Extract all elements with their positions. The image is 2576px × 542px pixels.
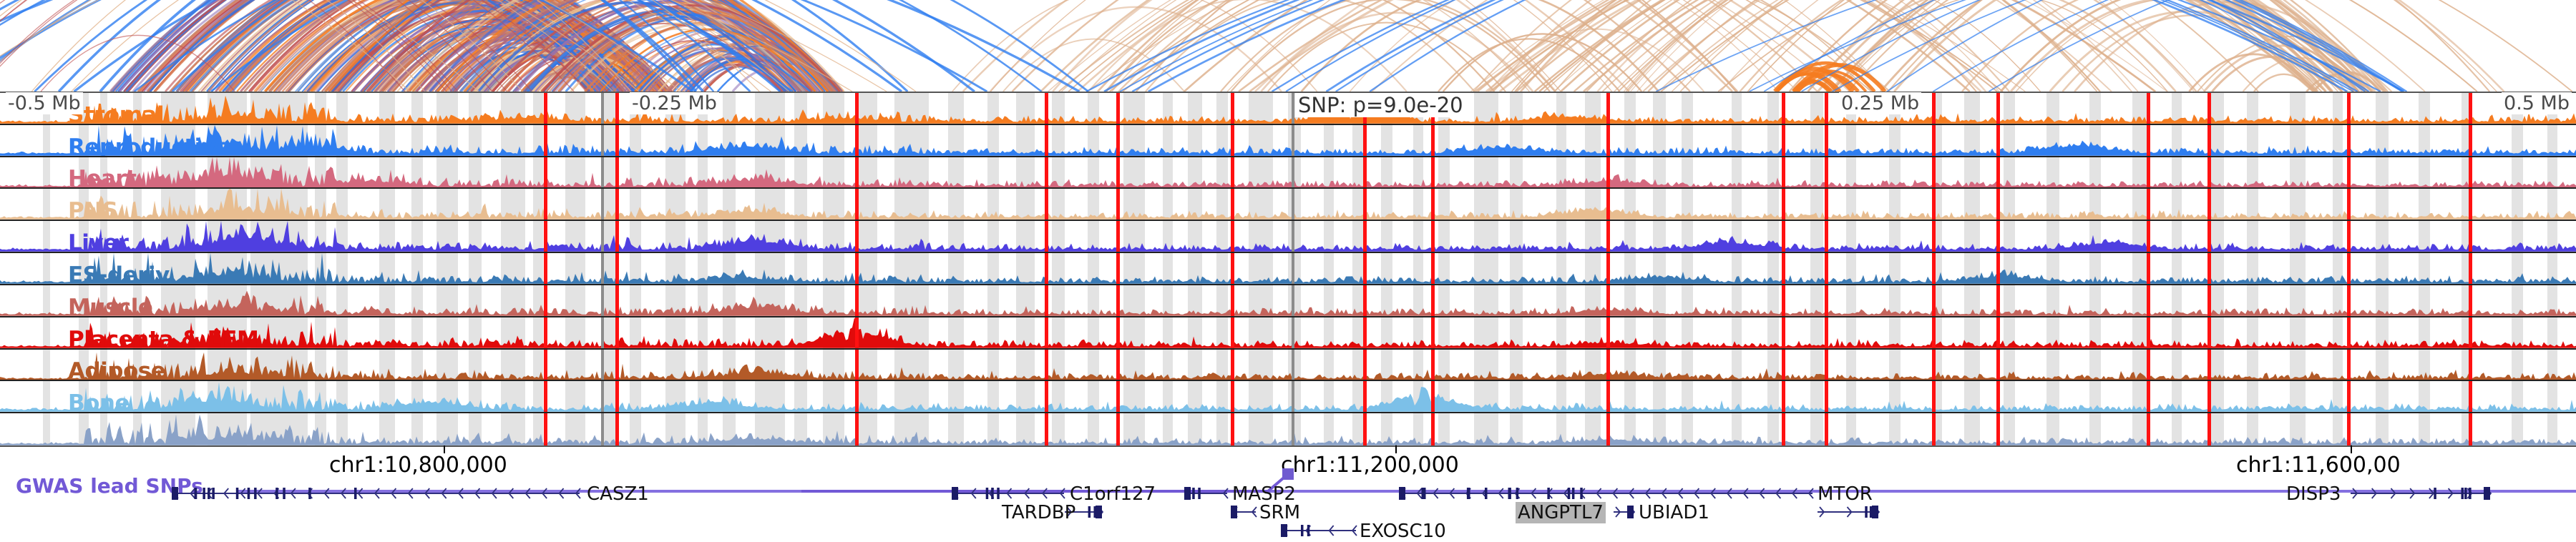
snp-position-marker [2347,413,2351,445]
signal-waveform [0,221,2576,252]
snp-position-marker [1932,381,1936,412]
snp-position-marker [2347,317,2351,348]
snp-position-marker [1363,317,1367,348]
snp-position-marker [1606,93,1610,124]
gray-position-marker [1292,285,1294,316]
snp-position-marker [1996,317,2000,348]
gray-position-marker [601,350,604,380]
snp-position-marker [1606,413,1610,445]
snp-position-marker [1932,350,1936,380]
snp-position-marker [2147,157,2150,188]
snp-position-marker [1231,93,1234,124]
gene-row: CASZ1C1orf127MASP2MTORDISP3 [0,485,2576,502]
axis-tick-label: -0.25 Mb [630,92,719,114]
snp-position-marker [1606,317,1610,348]
snp-position-marker [2207,350,2211,380]
gray-position-marker [601,381,604,412]
snp-position-marker [1045,285,1048,316]
snp-position-marker [2347,189,2351,220]
snp-position-marker [1116,125,1120,156]
gene-label[interactable]: EXOSC10 [1360,521,1446,542]
snp-position-marker [1782,189,1785,220]
track-label-es-deriv: ES-deriv [68,265,170,285]
axis-tick-label: 0.5 Mb [2502,92,2572,114]
snp-position-marker [1606,125,1610,156]
snp-position-marker [615,317,619,348]
snp-position-marker [855,125,859,156]
signal-track-stromal[interactable]: Stromal [0,93,2576,125]
snp-position-marker [2347,125,2351,156]
snp-position-marker [2207,125,2211,156]
gray-position-marker [601,157,604,188]
snp-position-marker [1431,125,1435,156]
gray-position-marker [1292,189,1294,220]
gene-label[interactable]: UBIAD1 [1639,502,1709,523]
snp-position-marker [1231,189,1234,220]
snp-position-marker [1825,317,1828,348]
snp-position-marker [2147,253,2150,284]
snp-position-marker [2469,253,2472,284]
signal-waveform [0,157,2576,188]
axis-tick-label: -0.5 Mb [6,92,83,114]
snp-position-marker [1932,189,1936,220]
snp-position-marker [1363,285,1367,316]
snp-position-marker [544,189,547,220]
snp-position-marker [2347,350,2351,380]
snp-position-marker [2469,189,2472,220]
snp-position-marker [1825,93,1828,124]
gray-position-marker [1292,253,1294,284]
snp-position-marker [1825,350,1828,380]
snp-position-marker [1782,221,1785,252]
snp-position-marker [1782,350,1785,380]
snp-position-marker [2347,157,2351,188]
signal-waveform [0,93,2576,124]
snp-position-marker [2469,125,2472,156]
snp-position-marker [1116,189,1120,220]
signal-track-liver[interactable]: Liver [0,221,2576,253]
snp-position-marker [1116,413,1120,445]
gene-label[interactable]: DISP3 [2286,483,2341,505]
snp-position-marker [2147,285,2150,316]
snp-position-marker [544,93,547,124]
gene-strand-arrows [1281,522,1359,539]
snp-position-marker [1231,317,1234,348]
snp-position-marker [1825,381,1828,412]
snp-position-marker [1116,157,1120,188]
signal-waveform [0,413,2576,445]
snp-position-marker [1782,93,1785,124]
snp-position-marker [544,413,547,445]
snp-position-marker [1116,317,1120,348]
snp-position-marker [1231,285,1234,316]
snp-position-marker [1431,350,1435,380]
gray-position-marker [1292,350,1294,380]
snp-position-marker [1782,125,1785,156]
snp-position-marker [1932,157,1936,188]
snp-position-marker [1996,157,2000,188]
track-label-placenta-eem: Placenta & EEM [68,329,258,350]
snp-position-marker [2207,317,2211,348]
snp-position-marker [1996,350,2000,380]
snp-position-marker [615,93,619,124]
snp-position-marker [1231,157,1234,188]
snp-position-marker [1431,157,1435,188]
snp-position-marker [1825,285,1828,316]
snp-position-marker [1782,253,1785,284]
snp-position-marker [615,221,619,252]
snp-position-marker [1932,413,1936,445]
snp-position-marker [1996,221,2000,252]
gene-model-ubiad1[interactable]: UBIAD1 [0,503,2576,521]
snp-position-marker [2207,93,2211,124]
track-label-pns: PNS [68,200,118,221]
snp-position-marker [1996,93,2000,124]
snp-position-marker [615,125,619,156]
gray-position-marker [1292,317,1294,348]
snp-position-marker [2147,317,2150,348]
gwas-lead-snp-marker[interactable] [1282,468,1294,480]
snp-position-marker [1116,285,1120,316]
snp-position-marker [1825,189,1828,220]
gray-position-marker [601,125,604,156]
snp-position-marker [1363,350,1367,380]
snp-position-marker [1996,381,2000,412]
track-label-liver: Liver [68,232,128,253]
snp-position-marker [2469,221,2472,252]
snp-position-marker [544,285,547,316]
snp-position-marker [615,350,619,380]
gray-position-marker [1292,157,1294,188]
snp-position-marker [2147,125,2150,156]
snp-position-marker [1782,317,1785,348]
snp-position-marker [1996,125,2000,156]
snp-position-marker [855,350,859,380]
track-label-reproductive: Reproductive [68,137,230,157]
snp-position-marker [1996,285,2000,316]
snp-position-marker [544,381,547,412]
gene-strand-arrows [1818,503,1881,521]
snp-position-marker [1363,253,1367,284]
snp-position-marker [2147,93,2150,124]
snp-pvalue-annotation: SNP: p=9.0e-20 [1295,93,1466,117]
snp-position-marker [615,381,619,412]
snp-position-marker [544,253,547,284]
snp-position-marker [2469,350,2472,380]
snp-position-marker [1116,221,1120,252]
snp-position-marker [1606,221,1610,252]
snp-position-marker [2147,381,2150,412]
snp-position-marker [1606,253,1610,284]
snp-position-marker [2469,93,2472,124]
snp-position-marker [855,285,859,316]
gray-position-marker [1292,413,1294,445]
snp-position-marker [1231,350,1234,380]
snp-position-marker [2207,413,2211,445]
snp-position-marker [1932,285,1936,316]
snp-position-marker [1825,221,1828,252]
signal-waveform [0,350,2576,380]
snp-position-marker [1825,125,1828,156]
snp-position-marker [855,93,859,124]
snp-position-marker [1116,253,1120,284]
chromatin-interaction-arc-panel [0,0,2576,92]
snp-position-marker [1045,221,1048,252]
snp-position-marker [1045,253,1048,284]
snp-position-marker [2207,285,2211,316]
snp-position-marker [1431,285,1435,316]
snp-position-marker [855,221,859,252]
gene-annotation-track: CASZ1C1orf127MASP2MTORDISP3TARDBPSRMANGP… [0,485,2576,536]
snp-position-marker [1045,317,1048,348]
snp-position-marker [2207,157,2211,188]
snp-position-marker [855,253,859,284]
snp-position-marker [1431,413,1435,445]
snp-position-marker [2469,285,2472,316]
snp-position-marker [2347,93,2351,124]
snp-position-marker [2207,381,2211,412]
signal-track-adipose[interactable]: Adipose [0,350,2576,382]
snp-position-marker [1606,285,1610,316]
snp-position-marker [1045,350,1048,380]
snp-position-marker [1932,317,1936,348]
snp-position-marker [1363,189,1367,220]
signal-waveform [0,381,2576,412]
signal-waveform [0,189,2576,220]
snp-position-marker [1782,285,1785,316]
snp-position-marker [2147,221,2150,252]
snp-position-marker [1045,413,1048,445]
snp-position-marker [855,413,859,445]
snp-position-marker [544,157,547,188]
signal-track-bone[interactable]: Bone [0,381,2576,413]
snp-position-marker [1932,125,1936,156]
gray-position-marker [601,317,604,348]
snp-position-marker [544,221,547,252]
snp-position-marker [615,157,619,188]
gene-row: TARDBPSRMANGPTL7UBIAD1 [0,503,2576,521]
signal-waveform [0,125,2576,156]
gray-position-marker [601,221,604,252]
snp-position-marker [1363,221,1367,252]
signal-track-muscle[interactable]: Muscle [0,285,2576,317]
snp-position-marker [615,253,619,284]
snp-position-marker [1363,413,1367,445]
gray-position-marker [1292,93,1294,124]
signal-track-stack: StromalReproductiveHeartPNSLiverES-deriv… [0,92,2576,447]
snp-position-marker [544,125,547,156]
signal-track-digestive[interactable] [0,413,2576,445]
snp-position-marker [2469,413,2472,445]
signal-track-es-deriv[interactable]: ES-deriv [0,253,2576,285]
snp-position-marker [2207,253,2211,284]
snp-position-marker [1932,221,1936,252]
snp-position-marker [1431,221,1435,252]
track-label-bone: Bone [68,393,130,413]
snp-position-marker [1782,381,1785,412]
snp-position-marker [615,189,619,220]
snp-position-marker [2347,221,2351,252]
gray-position-marker [601,93,604,124]
snp-position-marker [2347,253,2351,284]
snp-position-marker [1231,381,1234,412]
snp-position-marker [1932,93,1936,124]
snp-position-marker [1045,381,1048,412]
gray-position-marker [1292,125,1294,156]
gray-position-marker [601,285,604,316]
signal-track-placenta-eem[interactable]: Placenta & EEM [0,317,2576,350]
axis-tick-label: 0.25 Mb [1839,92,1921,114]
snp-position-marker [1996,413,2000,445]
signal-track-pns[interactable]: PNS [0,189,2576,221]
snp-position-marker [615,413,619,445]
snp-position-marker [855,317,859,348]
gray-position-marker [1292,221,1294,252]
snp-position-marker [1363,157,1367,188]
snp-position-marker [2207,189,2211,220]
gray-position-marker [601,189,604,220]
snp-position-marker [1825,413,1828,445]
snp-position-marker [1231,253,1234,284]
snp-position-marker [2147,189,2150,220]
snp-position-marker [1431,189,1435,220]
signal-waveform [0,253,2576,284]
gene-row: EXOSC10 [0,522,2576,539]
snp-position-marker [1825,253,1828,284]
snp-position-marker [1825,157,1828,188]
snp-position-marker [1782,157,1785,188]
snp-position-marker [544,350,547,380]
snp-position-marker [2147,413,2150,445]
snp-position-marker [1996,253,2000,284]
track-label-muscle: Muscle [68,297,152,317]
genome-browser-view: StromalReproductiveHeartPNSLiverES-deriv… [0,0,2576,536]
snp-position-marker [2207,221,2211,252]
gray-position-marker [1292,381,1294,412]
snp-position-marker [2147,350,2150,380]
snp-position-marker [1116,350,1120,380]
snp-position-marker [2347,381,2351,412]
snp-position-marker [1606,189,1610,220]
signal-track-heart[interactable]: Heart [0,157,2576,189]
snp-position-marker [1606,157,1610,188]
snp-position-marker [855,157,859,188]
snp-position-marker [1431,381,1435,412]
snp-position-marker [1045,125,1048,156]
gray-position-marker [601,413,604,445]
snp-position-marker [855,381,859,412]
snp-position-marker [2469,157,2472,188]
snp-position-marker [1996,189,2000,220]
snp-position-marker [1363,381,1367,412]
signal-waveform [0,285,2576,316]
track-label-heart: Heart [68,168,137,189]
signal-track-reproductive[interactable]: Reproductive [0,125,2576,157]
snp-position-marker [1231,221,1234,252]
snp-position-marker [1431,317,1435,348]
gene-model-disp3[interactable]: DISP3 [0,485,2576,502]
snp-position-marker [615,285,619,316]
gene-strand-arrows [2351,485,2493,502]
snp-position-marker [855,189,859,220]
snp-position-marker [1045,93,1048,124]
snp-position-marker [1231,125,1234,156]
snp-position-marker [2469,381,2472,412]
gene-model-exosc10[interactable]: EXOSC10 [0,522,2576,539]
snp-position-marker [1782,413,1785,445]
snp-position-marker [1363,125,1367,156]
snp-position-marker [1045,157,1048,188]
snp-position-marker [1231,413,1234,445]
snp-position-marker [1045,189,1048,220]
snp-position-marker [1116,93,1120,124]
snp-position-marker [1606,381,1610,412]
gray-position-marker [601,253,604,284]
snp-position-marker [1116,381,1120,412]
snp-position-marker [1431,253,1435,284]
snp-position-marker [1932,253,1936,284]
snp-position-marker [544,317,547,348]
signal-waveform [0,317,2576,348]
snp-position-marker [1606,350,1610,380]
snp-position-marker [2469,317,2472,348]
snp-position-marker [2347,285,2351,316]
track-label-adipose: Adipose [68,360,165,381]
